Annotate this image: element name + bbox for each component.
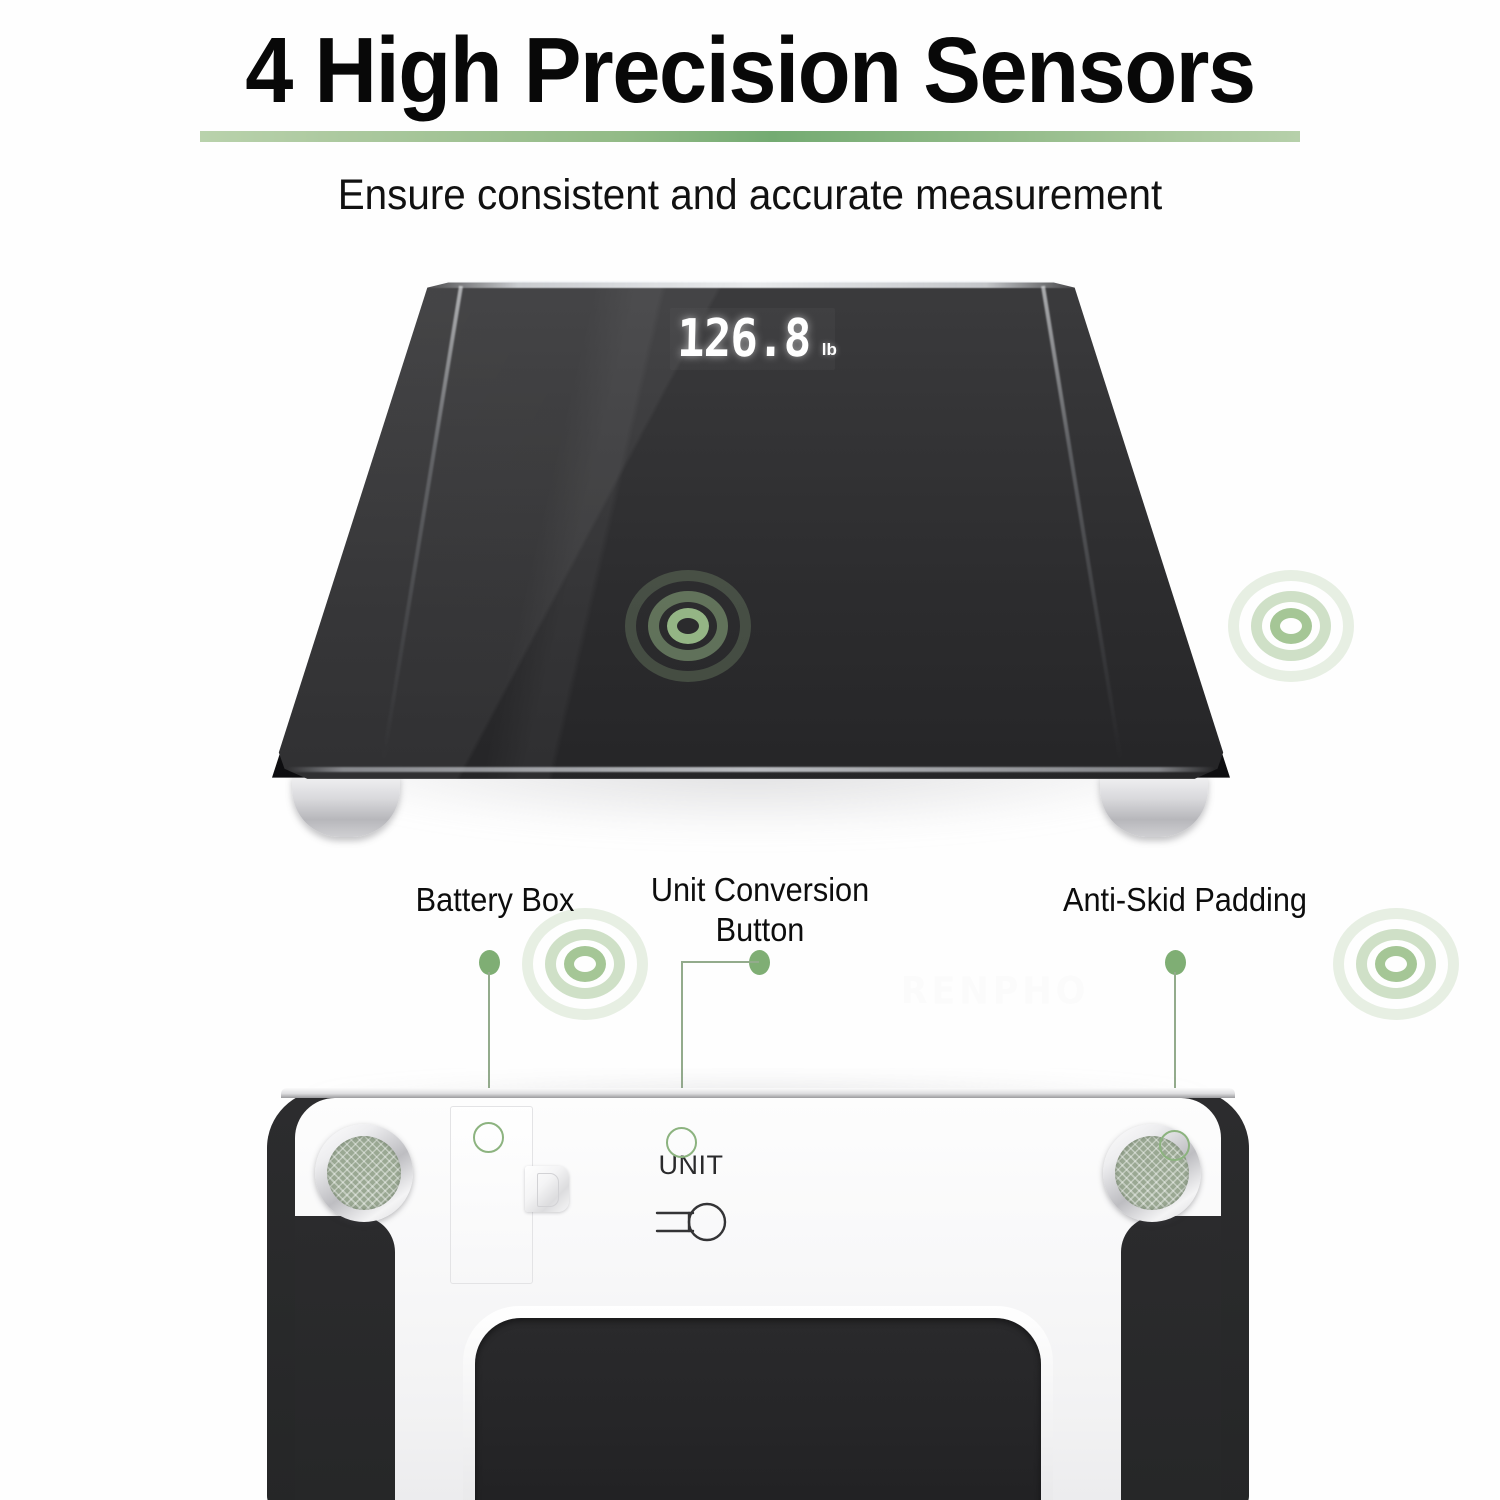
glass-bevel-top <box>427 281 1077 288</box>
glass-bevel-bottom <box>287 767 1215 772</box>
battery-box-latch[interactable] <box>525 1166 569 1212</box>
underside-cutout-left <box>295 1216 395 1500</box>
callout-target-anti-skid <box>1159 1130 1190 1161</box>
scale-top-view: 126.8 lb RENPHO <box>245 270 1255 840</box>
infographic-page: 4 High Precision Sensors Ensure consiste… <box>0 0 1500 1500</box>
scale-underside-view: UNIT <box>253 1068 1263 1500</box>
sensor-ring-inner <box>667 608 709 644</box>
unit-button-icon[interactable] <box>649 1198 733 1246</box>
underside-cutout-right <box>1121 1216 1221 1500</box>
brand-logo: RENPHO <box>245 969 1500 1016</box>
header-section: 4 High Precision Sensors Ensure consiste… <box>0 0 1500 232</box>
underside-recess <box>475 1318 1041 1500</box>
weight-unit: lb <box>822 341 837 358</box>
page-title: 4 High Precision Sensors <box>53 14 1448 126</box>
callout-label-anti-skid-padding: Anti-Skid Padding <box>1022 880 1348 920</box>
anti-skid-foot-left <box>315 1124 413 1222</box>
chrome-foot-front-left <box>292 775 400 837</box>
chrome-foot-front-right <box>1100 775 1208 837</box>
title-divider <box>200 131 1300 142</box>
callout-target-battery-box <box>473 1122 504 1153</box>
scale-body-rim <box>281 1088 1235 1098</box>
weight-value: 126.8 <box>677 313 812 365</box>
led-display: 126.8 lb <box>670 308 835 370</box>
sensor-ring-inner <box>1270 608 1312 644</box>
page-subtitle: Ensure consistent and accurate measureme… <box>45 168 1455 222</box>
anti-skid-pad-texture <box>327 1136 401 1210</box>
sensor-marker-top-right <box>1228 570 1354 682</box>
callout-label-unit-conversion-button: Unit Conversion Button <box>602 870 918 950</box>
callout-target-unit-button <box>666 1127 697 1158</box>
callout-leader-elbow-unit <box>681 961 759 963</box>
sensor-marker-top-left <box>625 570 751 682</box>
